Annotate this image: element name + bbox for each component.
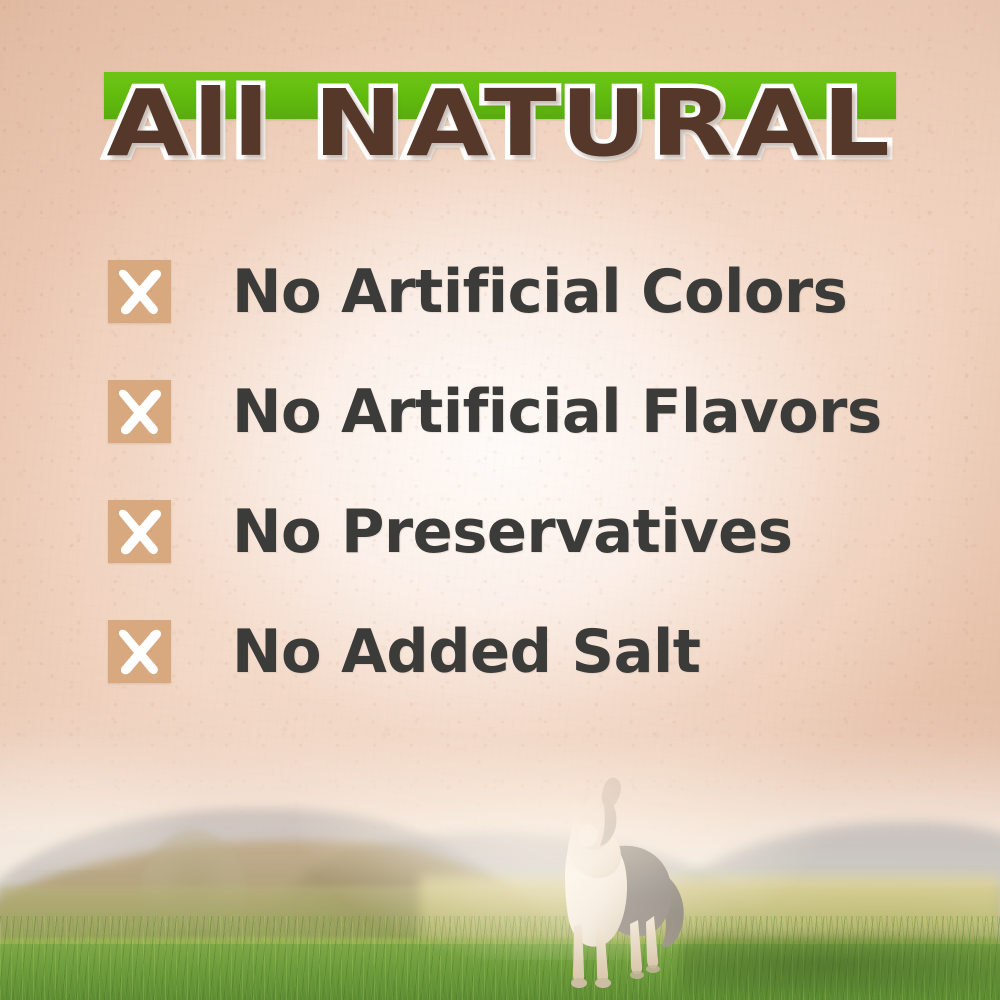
x-mark-icon: [108, 500, 171, 563]
benefits-list: No Artificial Colors No Artificial Flavo…: [108, 258, 928, 738]
list-item-label: No Added Salt: [232, 610, 701, 694]
border-collie-dog: [538, 774, 700, 992]
list-item-label: No Artificial Colors: [232, 250, 847, 334]
list-item: No Added Salt: [108, 618, 928, 738]
all-natural-poster: All NATURAL No Artificial Colors No Arti…: [0, 0, 1000, 1000]
grass-shadow: [680, 932, 1000, 994]
list-item-label: No Preservatives: [232, 490, 792, 574]
x-mark-icon: [108, 620, 171, 683]
list-item: No Artificial Flavors: [108, 378, 928, 498]
headline-container: All NATURAL: [0, 72, 1000, 192]
list-item: No Preservatives: [108, 498, 928, 618]
x-mark-icon: [108, 380, 171, 443]
x-mark-icon: [108, 260, 171, 323]
list-item-label: No Artificial Flavors: [232, 370, 882, 454]
page-title: All NATURAL: [0, 72, 1000, 176]
list-item: No Artificial Colors: [108, 258, 928, 378]
